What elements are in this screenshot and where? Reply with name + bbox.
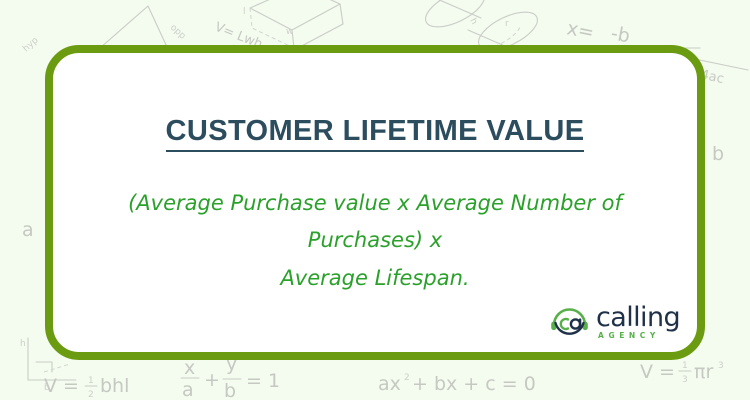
svg-text:3: 3	[718, 361, 724, 371]
svg-text:b: b	[712, 143, 724, 165]
svg-text:= 1: = 1	[246, 370, 280, 392]
svg-text:ax: ax	[378, 373, 401, 395]
formula-line-2: Average Lifespan.	[79, 260, 671, 297]
page-title-text: CUSTOMER LIFETIME VALUE	[166, 115, 585, 152]
svg-text:+: +	[204, 369, 220, 391]
svg-text:b: b	[44, 383, 50, 393]
formula-block: (Average Purchase value x Average Number…	[79, 185, 671, 297]
svg-text:r: r	[505, 19, 509, 29]
svg-text:bhl: bhl	[100, 375, 129, 397]
slide-canvas: hyp opp V= Lwh l w h r	[0, 0, 750, 400]
page-title: CUSTOMER LIFETIME VALUE	[53, 115, 697, 148]
logo-wordmark: calling AGENCY	[596, 306, 680, 339]
svg-text:opp: opp	[168, 23, 187, 42]
svg-text:3: 3	[682, 375, 688, 385]
brand-logo: calling AGENCY	[549, 306, 680, 340]
svg-text:1: 1	[682, 361, 688, 371]
svg-text:πr: πr	[694, 361, 713, 383]
logo-name: calling	[596, 306, 680, 331]
svg-text:h: h	[467, 17, 479, 27]
svg-text:hyp: hyp	[21, 35, 40, 54]
svg-text:+ bx + c = 0: + bx + c = 0	[412, 373, 536, 395]
svg-text:x: x	[184, 357, 195, 379]
svg-text:V =: V =	[44, 375, 79, 397]
svg-text:a: a	[22, 219, 34, 241]
svg-text:-b: -b	[609, 22, 632, 47]
svg-text:b: b	[224, 380, 236, 400]
intercept-line-equation-doodle: x a + y b = 1	[181, 353, 280, 400]
cone-volume-equation-doodle: V = 1 3 πr 3	[640, 361, 724, 385]
svg-text:a: a	[182, 379, 194, 400]
svg-text:w: w	[286, 27, 293, 37]
calling-agency-headset-monogram-icon	[549, 306, 591, 340]
svg-text:2: 2	[88, 390, 94, 400]
svg-text:1: 1	[88, 376, 94, 386]
letter-a-doodle: a	[22, 219, 34, 241]
content-card: CUSTOMER LIFETIME VALUE (Average Purchas…	[45, 45, 705, 360]
svg-text:l: l	[243, 7, 246, 17]
svg-text:2: 2	[404, 373, 410, 383]
svg-text:h: h	[20, 339, 26, 349]
formula-line-1: (Average Purchase value x Average Number…	[79, 185, 671, 260]
letter-b-doodle: b	[712, 143, 724, 165]
prism-volume-equation-doodle: V = 1 2 bhl	[44, 375, 129, 400]
svg-text:V =: V =	[640, 361, 675, 383]
svg-text:x=: x=	[565, 17, 596, 44]
logo-tagline: AGENCY	[596, 332, 680, 340]
quadratic-standard-form-doodle: ax 2 + bx + c = 0	[378, 373, 536, 395]
